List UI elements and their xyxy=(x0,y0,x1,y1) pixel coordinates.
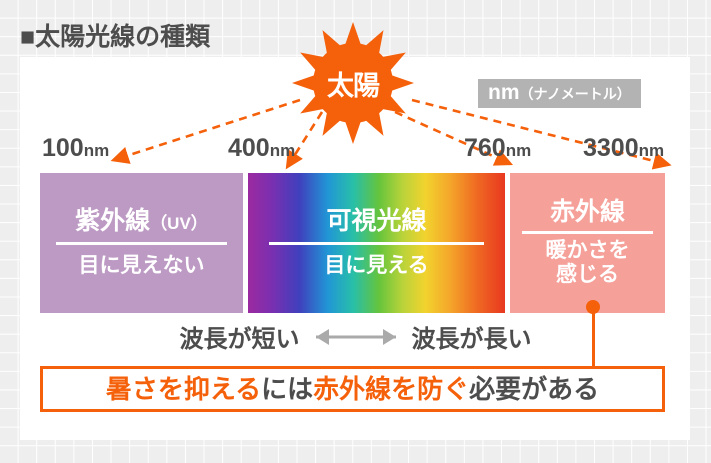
band-heading-text: 赤外線 xyxy=(550,198,625,226)
conclusion-plain-1: には xyxy=(261,374,313,404)
unit-legend-badge: nm（ナノメートル） xyxy=(478,79,641,108)
conclusion-plain-2: 必要がある xyxy=(469,374,599,404)
wavelength-short-label: 波長が短い xyxy=(180,319,300,354)
wavelength-unit: nm xyxy=(270,141,296,160)
wavelength-mark-400nm: 400nm xyxy=(228,136,295,161)
sun-graphic: 太陽 xyxy=(292,22,414,144)
band-subtext: 目に見える xyxy=(324,253,428,278)
conclusion-highlight-1: 暑さを抑える xyxy=(106,374,261,404)
unit-abbrev: nm xyxy=(488,81,520,104)
band-heading-text: 紫外線 xyxy=(75,207,150,235)
conclusion-callout: 暑さを抑えるには赤外線を防ぐ必要がある xyxy=(40,366,665,412)
band-heading-paren: （UV） xyxy=(150,214,208,233)
divider xyxy=(522,231,652,234)
wavelength-unit: nm xyxy=(506,141,532,160)
divider xyxy=(269,242,485,245)
wavelength-mark-3300nm: 3300nm xyxy=(583,136,664,161)
wavelength-value: 400 xyxy=(228,134,270,162)
conclusion-text: 暑さを抑えるには赤外線を防ぐ必要がある xyxy=(106,376,599,402)
conclusion-highlight-2: 赤外線を防ぐ xyxy=(313,374,469,404)
band-visible-light: 可視光線 目に見える xyxy=(248,173,505,313)
wavelength-unit: nm xyxy=(639,141,665,160)
wavelength-value: 3300 xyxy=(583,134,639,162)
band-subtext-line2: 感じる xyxy=(556,263,619,286)
page-title: ■太陽光線の種類 xyxy=(20,17,210,53)
band-infrared: 赤外線 暖かさを 感じる xyxy=(510,173,665,313)
sun-label: 太陽 xyxy=(313,43,393,123)
wavelength-long-label: 波長が長い xyxy=(412,319,532,354)
wavelength-unit: nm xyxy=(84,141,110,160)
unit-full: （ナノメートル） xyxy=(520,86,631,102)
band-heading: 紫外線（UV） xyxy=(75,208,208,236)
infographic-root: ■太陽光線の種類 xyxy=(0,0,711,463)
band-subtext-line1: 暖かさを xyxy=(546,239,630,262)
band-heading-text: 可視光線 xyxy=(326,207,426,235)
divider xyxy=(56,242,227,245)
band-ultraviolet: 紫外線（UV） 目に見えない xyxy=(40,173,243,313)
wavelength-mark-760nm: 760nm xyxy=(464,136,531,161)
band-heading: 赤外線 xyxy=(550,199,625,227)
band-subtext: 暖かさを 感じる xyxy=(546,239,630,287)
wavelength-mark-100nm: 100nm xyxy=(42,136,109,161)
wavelength-scale-row: 波長が短い 波長が長い xyxy=(0,319,711,354)
band-subtext: 目に見えない xyxy=(79,253,205,278)
double-headed-arrow-icon xyxy=(302,326,410,348)
band-heading: 可視光線 xyxy=(326,208,426,236)
wavelength-value: 100 xyxy=(42,134,84,162)
wavelength-value: 760 xyxy=(464,134,506,162)
